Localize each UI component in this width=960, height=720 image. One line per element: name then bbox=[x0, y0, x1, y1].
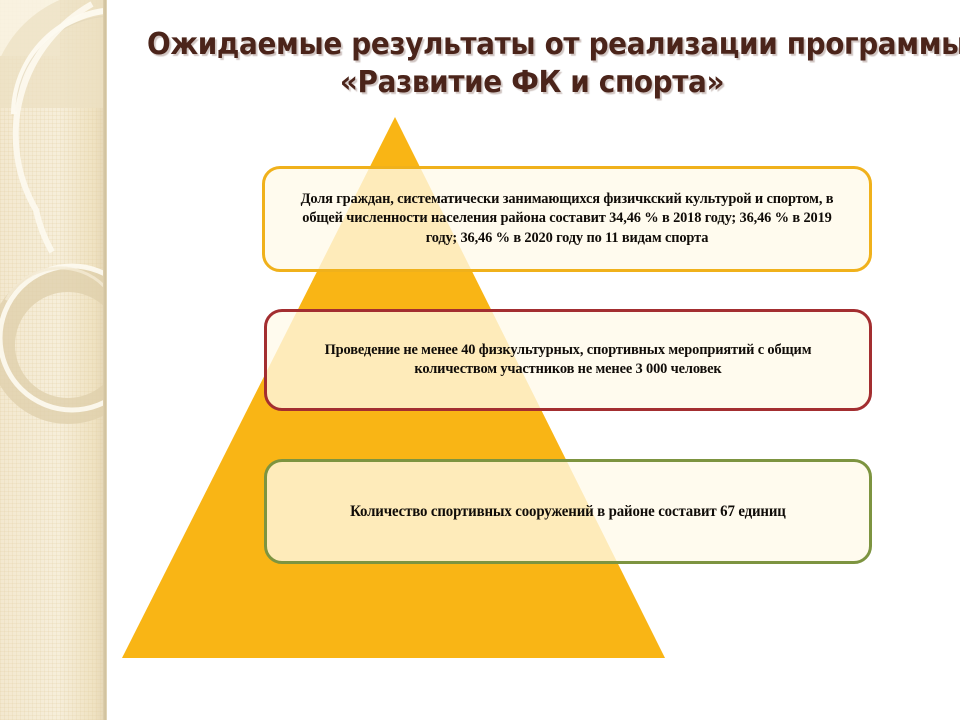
sidebar-edge bbox=[103, 0, 107, 720]
title-line-1: Ожидаемые результаты от реализации прогр… bbox=[147, 26, 917, 64]
result-box-level-3-text: Количество спортивных сооружений в район… bbox=[339, 502, 798, 522]
result-box-level-3[interactable]: Количество спортивных сооружений в район… bbox=[264, 459, 872, 564]
result-box-level-2[interactable]: Проведение не менее 40 физкультурных, сп… bbox=[264, 309, 872, 411]
sidebar-ornament-icon bbox=[0, 0, 107, 720]
result-box-level-1[interactable]: Доля граждан, систематически занимающихс… bbox=[262, 166, 872, 272]
title-line-2: «Развитие ФК и спорта» bbox=[147, 64, 917, 102]
page-title: Ожидаемые результаты от реализации прогр… bbox=[147, 26, 917, 102]
result-box-level-1-text: Доля граждан, систематически занимающихс… bbox=[277, 190, 857, 249]
decorative-sidebar bbox=[0, 0, 107, 720]
slide-canvas: Ожидаемые результаты от реализации прогр… bbox=[0, 0, 960, 720]
result-box-level-2-text: Проведение не менее 40 физкультурных, сп… bbox=[279, 341, 857, 380]
